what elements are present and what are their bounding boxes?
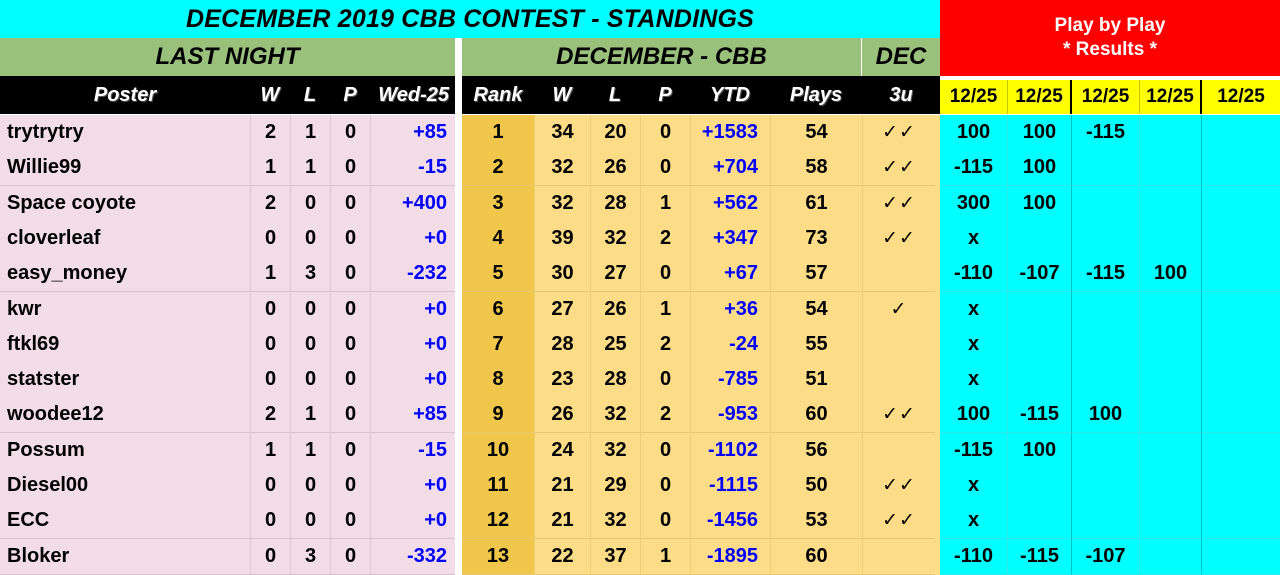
result-value (1008, 327, 1072, 363)
row-divider (455, 115, 462, 151)
december-mp-value: 0 (640, 150, 690, 186)
december-plays-value: 57 (770, 256, 862, 292)
result-value (1008, 221, 1072, 257)
column-header-date-2[interactable]: 12/25 (1008, 80, 1072, 114)
row-divider (455, 292, 462, 328)
december-ml-value: 37 (590, 539, 640, 575)
result-value (1008, 503, 1072, 539)
lastnight-w-value: 2 (250, 186, 290, 222)
result-value: x (940, 221, 1008, 257)
lastnight-wed-value: -15 (370, 150, 455, 186)
poster-name: Possum (0, 433, 250, 469)
result-value: -107 (1008, 256, 1072, 292)
table-row: kwr000+0627261+3654✓x (0, 292, 1280, 328)
december-u3-value: ✓✓ (862, 397, 935, 433)
result-value (1202, 503, 1280, 539)
lastnight-w-value: 0 (250, 292, 290, 328)
december-ytd-value: -1895 (690, 539, 770, 575)
result-value (1202, 468, 1280, 504)
result-value: -115 (1072, 256, 1140, 292)
poster-name: ECC (0, 503, 250, 539)
december-rank-value: 2 (462, 150, 534, 186)
poster-name: trytrytry (0, 115, 250, 151)
column-header-rank[interactable]: Rank (462, 76, 534, 114)
result-value (1072, 503, 1140, 539)
lastnight-wed-value: -232 (370, 256, 455, 292)
result-value (1140, 503, 1202, 539)
row-divider (455, 468, 462, 504)
result-value (1140, 327, 1202, 363)
result-value (1140, 115, 1202, 151)
lastnight-p-value: 0 (330, 397, 370, 433)
lastnight-w-value: 1 (250, 150, 290, 186)
lastnight-wed-value: -332 (370, 539, 455, 575)
result-value (1202, 150, 1280, 186)
lastnight-l-value: 0 (290, 186, 330, 222)
december-mp-value: 1 (640, 186, 690, 222)
december-mw-value: 32 (534, 150, 590, 186)
lastnight-p-value: 0 (330, 221, 370, 257)
poster-name: ftkl69 (0, 327, 250, 363)
lastnight-p-value: 0 (330, 256, 370, 292)
result-value (1140, 362, 1202, 398)
lastnight-l-value: 0 (290, 221, 330, 257)
row-divider (455, 221, 462, 257)
section-header-dec: DEC (862, 38, 940, 76)
result-value (1140, 433, 1202, 469)
lastnight-l-value: 0 (290, 327, 330, 363)
result-value: x (940, 362, 1008, 398)
table-row: easy_money130-232530270+6757-110-107-115… (0, 256, 1280, 292)
december-ml-value: 32 (590, 397, 640, 433)
december-plays-value: 58 (770, 150, 862, 186)
lastnight-l-value: 1 (290, 150, 330, 186)
row-divider (455, 186, 462, 222)
lastnight-l-value: 0 (290, 503, 330, 539)
result-value (1008, 362, 1072, 398)
lastnight-wed-value: +400 (370, 186, 455, 222)
december-mw-value: 27 (534, 292, 590, 328)
december-mp-value: 2 (640, 221, 690, 257)
table-row: Bloker030-3321322371-189560-110-115-107 (0, 539, 1280, 575)
december-u3-value (862, 327, 935, 363)
december-mw-value: 24 (534, 433, 590, 469)
column-header-mid-l[interactable]: L (590, 76, 640, 114)
result-value (1202, 433, 1280, 469)
december-ml-value: 27 (590, 256, 640, 292)
result-value: x (940, 468, 1008, 504)
result-value (1072, 221, 1140, 257)
december-mp-value: 0 (640, 468, 690, 504)
lastnight-l-value: 0 (290, 292, 330, 328)
lastnight-l-value: 1 (290, 433, 330, 469)
december-ml-value: 32 (590, 503, 640, 539)
december-ml-value: 32 (590, 221, 640, 257)
lastnight-w-value: 0 (250, 327, 290, 363)
lastnight-wed-value: +0 (370, 292, 455, 328)
row-divider (455, 362, 462, 398)
lastnight-wed-value: +0 (370, 327, 455, 363)
lastnight-l-value: 1 (290, 397, 330, 433)
result-value (1072, 150, 1140, 186)
december-ml-value: 32 (590, 433, 640, 469)
column-header-poster[interactable]: Poster (0, 76, 250, 114)
lastnight-l-value: 3 (290, 539, 330, 575)
result-value: 100 (1008, 186, 1072, 222)
december-mp-value: 0 (640, 433, 690, 469)
result-value: -115 (940, 150, 1008, 186)
december-ytd-value: +347 (690, 221, 770, 257)
result-value: x (940, 327, 1008, 363)
section-header-december-cbb: DECEMBER - CBB (462, 38, 861, 76)
december-ytd-value: -953 (690, 397, 770, 433)
december-mw-value: 26 (534, 397, 590, 433)
table-row: Willie99110-15232260+70458✓✓-115100 (0, 150, 1280, 186)
result-value (1072, 327, 1140, 363)
standings-spreadsheet: DECEMBER 2019 CBB CONTEST - STANDINGS Pl… (0, 0, 1280, 574)
december-mp-value: 0 (640, 362, 690, 398)
lastnight-w-value: 1 (250, 433, 290, 469)
result-value: 300 (940, 186, 1008, 222)
lastnight-wed-value: +85 (370, 115, 455, 151)
column-header-mid-p[interactable]: P (640, 76, 690, 114)
december-rank-value: 10 (462, 433, 534, 469)
december-ml-value: 26 (590, 150, 640, 186)
december-u3-value (862, 362, 935, 398)
december-ytd-value: +36 (690, 292, 770, 328)
row-divider (455, 150, 462, 186)
december-u3-value: ✓✓ (862, 503, 935, 539)
december-mw-value: 23 (534, 362, 590, 398)
lastnight-w-value: 2 (250, 115, 290, 151)
december-plays-value: 51 (770, 362, 862, 398)
december-plays-value: 54 (770, 115, 862, 151)
result-value: x (940, 292, 1008, 328)
december-ml-value: 29 (590, 468, 640, 504)
result-value (1202, 221, 1280, 257)
result-value (1202, 292, 1280, 328)
december-ml-value: 28 (590, 362, 640, 398)
lastnight-l-value: 3 (290, 256, 330, 292)
lastnight-wed-value: +85 (370, 397, 455, 433)
lastnight-wed-value: +0 (370, 362, 455, 398)
lastnight-p-value: 0 (330, 115, 370, 151)
column-header-date-3[interactable]: 12/25 (1072, 80, 1140, 114)
result-value: 100 (1008, 115, 1072, 151)
lastnight-l-value: 1 (290, 115, 330, 151)
table-row: ECC000+01221320-145653✓✓x (0, 503, 1280, 539)
section-header-last-night: LAST NIGHT (0, 38, 455, 76)
result-value: 100 (1072, 397, 1140, 433)
result-value (1072, 292, 1140, 328)
december-u3-value: ✓✓ (862, 115, 935, 151)
result-value (1202, 115, 1280, 151)
column-header-mid-w[interactable]: W (534, 76, 590, 114)
result-value (1140, 292, 1202, 328)
december-mp-value: 0 (640, 503, 690, 539)
result-value (1202, 539, 1280, 575)
lastnight-w-value: 1 (250, 256, 290, 292)
result-value: 100 (940, 397, 1008, 433)
december-mw-value: 21 (534, 468, 590, 504)
column-header-wed-25[interactable]: Wed-25 (370, 76, 455, 114)
december-ml-value: 28 (590, 186, 640, 222)
column-header-left-p[interactable]: P (330, 76, 370, 114)
result-value: x (940, 503, 1008, 539)
lastnight-p-value: 0 (330, 327, 370, 363)
lastnight-p-value: 0 (330, 292, 370, 328)
december-mp-value: 0 (640, 115, 690, 151)
lastnight-l-value: 0 (290, 362, 330, 398)
december-ytd-value: -1102 (690, 433, 770, 469)
table-row: trytrytry210+85134200+158354✓✓100100-115 (0, 115, 1280, 151)
december-u3-value (862, 433, 935, 469)
december-ytd-value: -1456 (690, 503, 770, 539)
lastnight-l-value: 0 (290, 468, 330, 504)
december-plays-value: 73 (770, 221, 862, 257)
december-rank-value: 6 (462, 292, 534, 328)
column-header-date-5[interactable]: 12/25 (1202, 80, 1280, 114)
lastnight-p-value: 0 (330, 362, 370, 398)
december-rank-value: 1 (462, 115, 534, 151)
result-value (1202, 186, 1280, 222)
december-plays-value: 55 (770, 327, 862, 363)
result-value (1140, 539, 1202, 575)
lastnight-p-value: 0 (330, 186, 370, 222)
lastnight-wed-value: +0 (370, 503, 455, 539)
poster-name: kwr (0, 292, 250, 328)
play-by-play-line1: Play by Play (1055, 14, 1166, 38)
result-value (1202, 397, 1280, 433)
december-plays-value: 53 (770, 503, 862, 539)
table-row: statster000+0823280-78551x (0, 362, 1280, 398)
lastnight-p-value: 0 (330, 539, 370, 575)
result-value (1008, 468, 1072, 504)
december-plays-value: 50 (770, 468, 862, 504)
result-value (1202, 362, 1280, 398)
december-mp-value: 2 (640, 397, 690, 433)
column-header-left-l[interactable]: L (290, 76, 330, 114)
december-mp-value: 0 (640, 256, 690, 292)
december-mp-value: 1 (640, 292, 690, 328)
result-value: -115 (1008, 539, 1072, 575)
section-divider (455, 38, 462, 76)
result-value (1072, 468, 1140, 504)
december-plays-value: 60 (770, 539, 862, 575)
row-divider (455, 256, 462, 292)
play-by-play-header: Play by Play * Results * (940, 0, 1280, 76)
december-mw-value: 39 (534, 221, 590, 257)
lastnight-w-value: 0 (250, 362, 290, 398)
lastnight-wed-value: +0 (370, 468, 455, 504)
result-value (1140, 186, 1202, 222)
result-value: -110 (940, 539, 1008, 575)
lastnight-p-value: 0 (330, 468, 370, 504)
row-divider (455, 539, 462, 575)
december-u3-value: ✓✓ (862, 221, 935, 257)
december-ytd-value: +562 (690, 186, 770, 222)
december-u3-value: ✓ (862, 292, 935, 328)
table-row: cloverleaf000+0439322+34773✓✓x (0, 221, 1280, 257)
december-rank-value: 13 (462, 539, 534, 575)
december-ytd-value: -24 (690, 327, 770, 363)
december-mp-value: 1 (640, 539, 690, 575)
table-row: Space coyote200+400332281+56261✓✓300100 (0, 186, 1280, 222)
column-header-date-4[interactable]: 12/25 (1140, 80, 1202, 114)
result-value (1140, 221, 1202, 257)
result-value: -107 (1072, 539, 1140, 575)
row-divider (455, 327, 462, 363)
result-value: 100 (1140, 256, 1202, 292)
poster-name: Willie99 (0, 150, 250, 186)
result-value (1072, 362, 1140, 398)
december-ml-value: 20 (590, 115, 640, 151)
december-mw-value: 22 (534, 539, 590, 575)
december-plays-value: 60 (770, 397, 862, 433)
result-value: -115 (1072, 115, 1140, 151)
december-ytd-value: +704 (690, 150, 770, 186)
december-mw-value: 30 (534, 256, 590, 292)
lastnight-w-value: 2 (250, 397, 290, 433)
december-plays-value: 54 (770, 292, 862, 328)
december-u3-value: ✓✓ (862, 150, 935, 186)
december-mw-value: 21 (534, 503, 590, 539)
lastnight-w-value: 0 (250, 503, 290, 539)
result-value: -110 (940, 256, 1008, 292)
december-plays-value: 61 (770, 186, 862, 222)
december-mw-value: 32 (534, 186, 590, 222)
poster-name: Space coyote (0, 186, 250, 222)
poster-name: woodee12 (0, 397, 250, 433)
december-rank-value: 11 (462, 468, 534, 504)
lastnight-p-value: 0 (330, 503, 370, 539)
december-rank-value: 9 (462, 397, 534, 433)
result-value (1072, 186, 1140, 222)
december-rank-value: 12 (462, 503, 534, 539)
column-header-left-w[interactable]: W (250, 76, 290, 114)
lastnight-wed-value: -15 (370, 433, 455, 469)
december-rank-value: 3 (462, 186, 534, 222)
column-header-plays[interactable]: Plays (770, 76, 862, 114)
poster-name: cloverleaf (0, 221, 250, 257)
result-value (1140, 150, 1202, 186)
december-u3-value: ✓✓ (862, 468, 935, 504)
december-ytd-value: -785 (690, 362, 770, 398)
lastnight-w-value: 0 (250, 539, 290, 575)
column-header-3u[interactable]: 3u (862, 76, 940, 114)
table-row: ftkl69000+0728252-2455x (0, 327, 1280, 363)
december-rank-value: 7 (462, 327, 534, 363)
lastnight-wed-value: +0 (370, 221, 455, 257)
result-value (1202, 256, 1280, 292)
column-header-ytd[interactable]: YTD (690, 76, 770, 114)
header-divider (455, 76, 462, 114)
december-u3-value: ✓✓ (862, 186, 935, 222)
december-u3-value (862, 256, 935, 292)
poster-name: Diesel00 (0, 468, 250, 504)
result-value: 100 (1008, 150, 1072, 186)
result-value (1140, 397, 1202, 433)
poster-name: easy_money (0, 256, 250, 292)
december-plays-value: 56 (770, 433, 862, 469)
december-rank-value: 8 (462, 362, 534, 398)
lastnight-w-value: 0 (250, 468, 290, 504)
result-value (1072, 433, 1140, 469)
december-ytd-value: -1115 (690, 468, 770, 504)
page-title: DECEMBER 2019 CBB CONTEST - STANDINGS (0, 0, 940, 38)
december-ytd-value: +67 (690, 256, 770, 292)
poster-name: statster (0, 362, 250, 398)
december-ml-value: 25 (590, 327, 640, 363)
december-rank-value: 4 (462, 221, 534, 257)
lastnight-p-value: 0 (330, 433, 370, 469)
lastnight-p-value: 0 (330, 150, 370, 186)
december-mw-value: 28 (534, 327, 590, 363)
play-by-play-line2: * Results * (1063, 38, 1157, 62)
row-divider (455, 433, 462, 469)
poster-name: Bloker (0, 539, 250, 575)
row-divider (455, 503, 462, 539)
december-ml-value: 26 (590, 292, 640, 328)
result-value: -115 (1008, 397, 1072, 433)
december-u3-value (862, 539, 935, 575)
row-divider (455, 397, 462, 433)
december-mp-value: 2 (640, 327, 690, 363)
table-row: Possum110-151024320-110256-115100 (0, 433, 1280, 469)
december-rank-value: 5 (462, 256, 534, 292)
result-value: 100 (940, 115, 1008, 151)
table-row: Diesel00000+01121290-111550✓✓x (0, 468, 1280, 504)
lastnight-w-value: 0 (250, 221, 290, 257)
december-mw-value: 34 (534, 115, 590, 151)
result-value (1202, 327, 1280, 363)
result-value (1008, 292, 1072, 328)
december-ytd-value: +1583 (690, 115, 770, 151)
column-header-date-1[interactable]: 12/25 (940, 80, 1008, 114)
table-row: woodee12210+85926322-95360✓✓100-115100 (0, 397, 1280, 433)
result-value: -115 (940, 433, 1008, 469)
result-value (1140, 468, 1202, 504)
result-value: 100 (1008, 433, 1072, 469)
